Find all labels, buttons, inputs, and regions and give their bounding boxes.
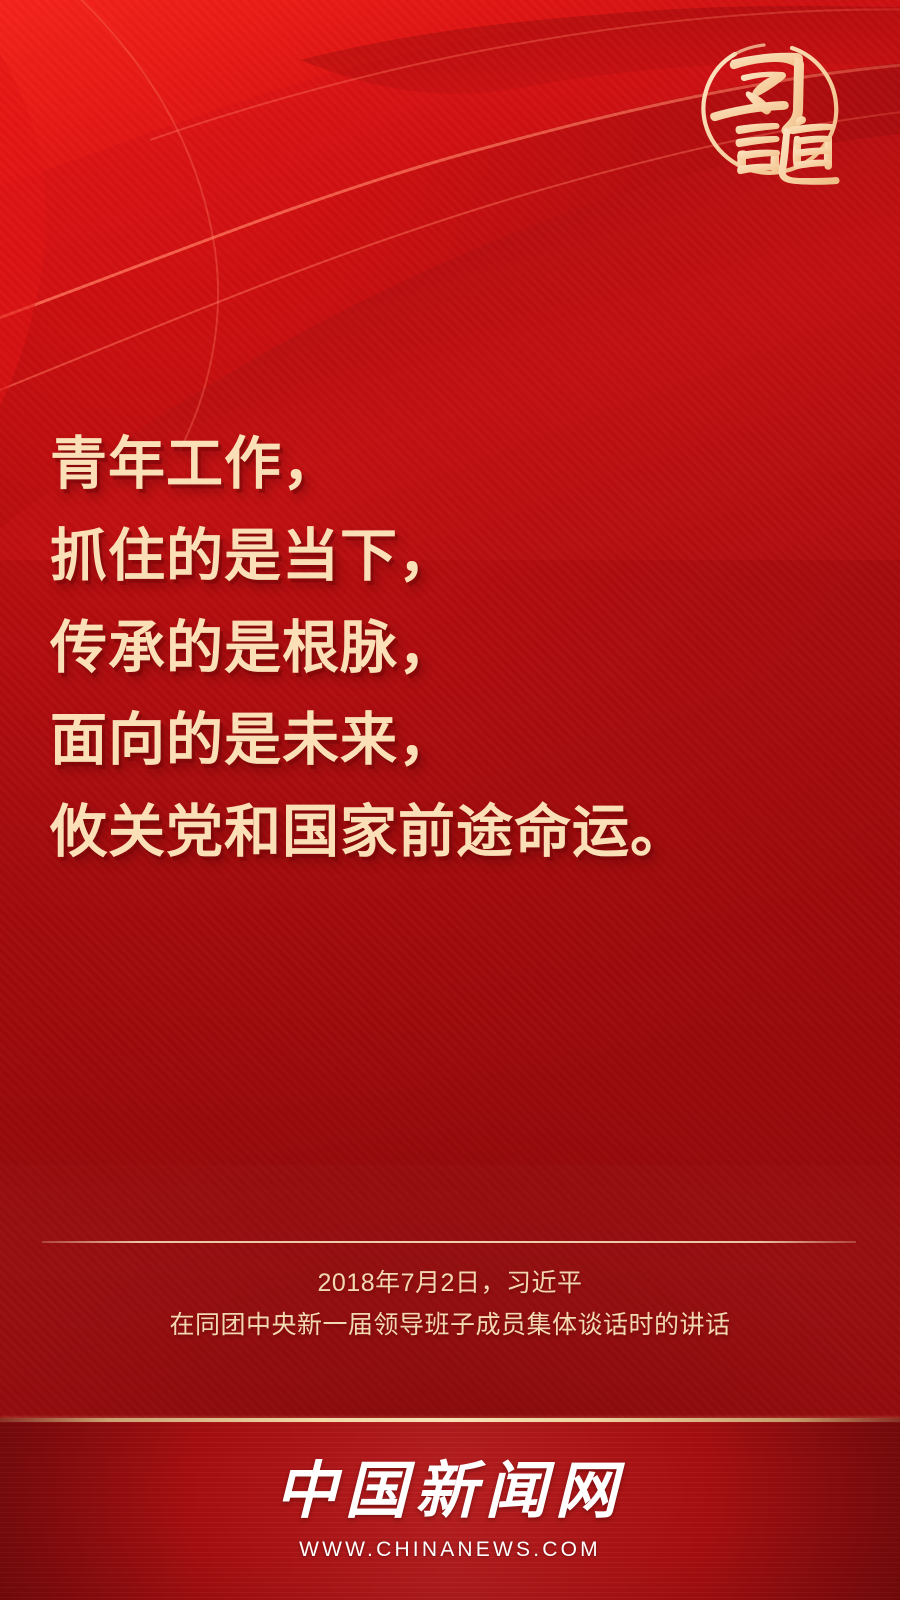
quote-line-3: 传承的是根脉， [50,602,850,694]
attribution-block: 2018年7月2日，习近平 在同团中央新一届领导班子成员集体谈话时的讲话 [0,1262,900,1346]
quote-line-4: 面向的是未来， [50,694,850,786]
quote-line-1: 青年工作， [50,418,850,510]
attribution-divider [42,1241,856,1243]
attribution-line-1: 2018年7月2日，习近平 [0,1262,900,1304]
seal-char-yan [710,101,789,174]
quote-line-5: 攸关党和国家前途命运。 [50,786,850,878]
quote-block: 青年工作， 抓住的是当下， 传承的是根脉， 面向的是未来， 攸关党和国家前途命运… [50,418,850,878]
seal-char-xi [730,53,804,135]
chinanews-url: WWW.CHINANEWS.COM [0,1538,900,1562]
poster-canvas: 青年工作， 抓住的是当下， 传承的是根脉， 面向的是未来， 攸关党和国家前途命运… [0,0,900,1600]
attribution-line-2: 在同团中央新一届领导班子成员集体谈话时的讲话 [0,1304,900,1346]
chinanews-brand-text: 中国新闻网 [0,1456,900,1528]
xi-yan-dao-seal-logo [688,28,848,188]
chinanews-logo: 中国新闻网 [0,1456,900,1528]
quote-line-2: 抓住的是当下， [50,510,850,602]
